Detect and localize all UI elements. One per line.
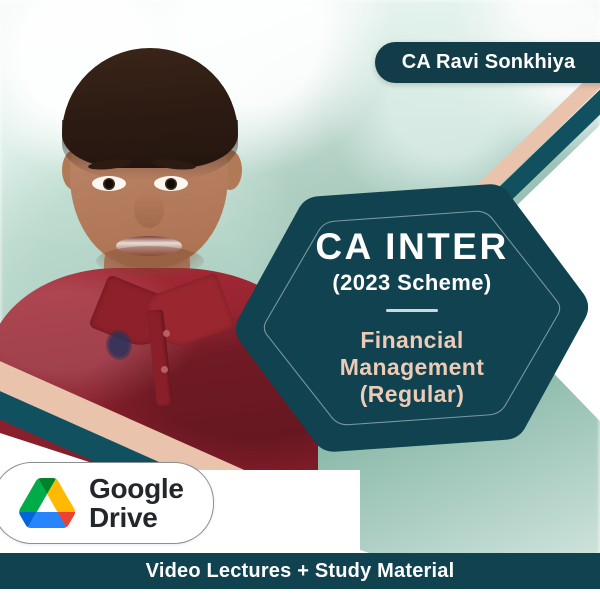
hair-fade — [62, 120, 238, 180]
hexagon-text-group: CA INTER (2023 Scheme) Financial Managem… — [232, 168, 592, 468]
footer-text: Video Lectures + Study Material — [146, 560, 455, 583]
instructor-name-badge: CA Ravi Sonkhiya — [375, 42, 600, 83]
eye-left — [92, 176, 126, 191]
google-drive-label: Google Drive — [89, 474, 184, 533]
course-title: CA INTER — [315, 228, 508, 265]
nose — [134, 192, 164, 228]
eye-right — [154, 176, 188, 191]
course-poster: CA Ravi Sonkhiya CA INTER (2023 Scheme) … — [0, 0, 600, 600]
course-subject: Financial Management (Regular) — [340, 327, 485, 408]
course-hexagon-badge: CA INTER (2023 Scheme) Financial Managem… — [232, 168, 592, 468]
google-drive-badge[interactable]: Google Drive — [0, 462, 214, 544]
subject-line-3: (Regular) — [340, 381, 485, 408]
shirt-button-bottom — [161, 366, 168, 373]
google-drive-icon — [19, 478, 75, 528]
subject-line-1: Financial — [340, 327, 485, 354]
shirt-button-top — [163, 330, 170, 337]
instructor-name: CA Ravi Sonkhiya — [402, 51, 594, 74]
footer-bar: Video Lectures + Study Material — [0, 553, 600, 589]
chin-shadow — [96, 246, 204, 276]
brand-line-1: Google — [89, 475, 184, 503]
hexagon-divider — [386, 309, 438, 312]
course-scheme: (2023 Scheme) — [332, 272, 491, 294]
brand-line-2: Drive — [89, 504, 184, 532]
subject-line-2: Management — [340, 354, 485, 381]
